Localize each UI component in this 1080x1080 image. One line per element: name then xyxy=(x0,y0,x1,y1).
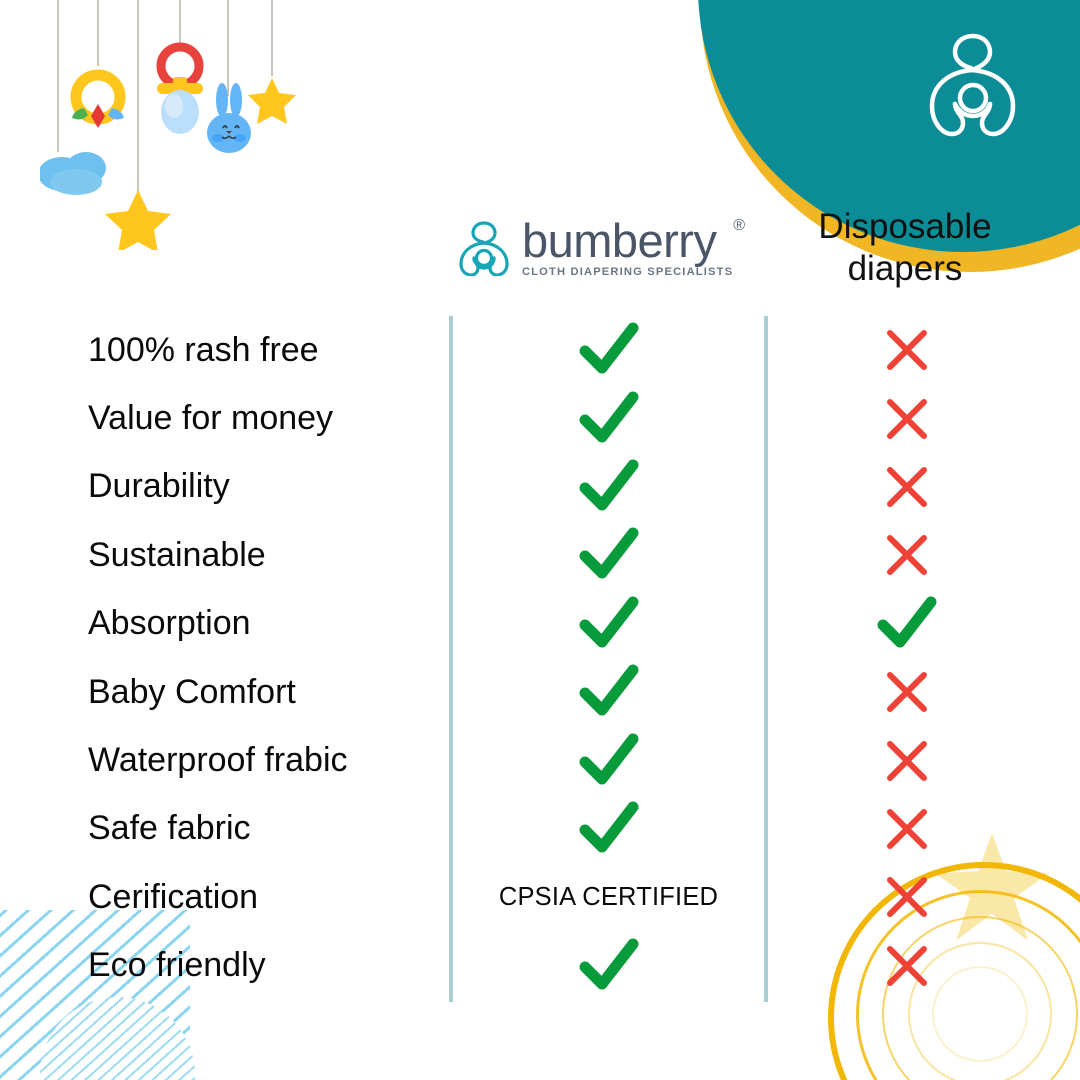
competitor-header-line-1: Disposable xyxy=(818,207,991,246)
brand-cell xyxy=(453,726,764,794)
star-icon xyxy=(248,78,296,124)
brand-cell xyxy=(453,521,764,589)
feature-label: Absorption xyxy=(88,590,251,658)
check-icon xyxy=(876,596,938,652)
brand-cell xyxy=(453,590,764,658)
check-icon xyxy=(578,459,640,515)
table-row: Value for money xyxy=(0,384,1080,452)
feature-label: Eco friendly xyxy=(88,932,266,1000)
table-row: Sustainable xyxy=(0,521,1080,589)
feature-label: Sustainable xyxy=(88,521,266,589)
feature-label: Waterproof frabic xyxy=(88,726,348,794)
competitor-cell xyxy=(768,453,1045,521)
competitor-cell xyxy=(768,590,1045,658)
cross-icon xyxy=(883,805,931,853)
check-icon xyxy=(578,527,640,583)
feature-label: Baby Comfort xyxy=(88,658,296,726)
competitor-cell xyxy=(768,521,1045,589)
competitor-cell xyxy=(768,795,1045,863)
competitor-column-header: Disposable diapers xyxy=(765,196,1045,300)
table-row: CerificationCPSIA CERTIFIED xyxy=(0,863,1080,931)
check-icon xyxy=(578,801,640,857)
comparison-infographic: bumberry CLOTH DIAPERING SPECIALISTS ® D… xyxy=(0,0,1080,1080)
cross-icon xyxy=(883,668,931,716)
table-row: 100% rash free xyxy=(0,316,1080,384)
brand-tagline: CLOTH DIAPERING SPECIALISTS xyxy=(522,266,733,278)
table-row: Waterproof frabic xyxy=(0,726,1080,794)
feature-label: Safe fabric xyxy=(88,795,251,863)
feature-label: Value for money xyxy=(88,384,333,452)
competitor-header-line-2: diapers xyxy=(848,249,963,288)
table-row: Safe fabric xyxy=(0,795,1080,863)
column-headers: bumberry CLOTH DIAPERING SPECIALISTS ® D… xyxy=(0,196,1080,300)
brand-cell xyxy=(453,932,764,1000)
pacifier-icon xyxy=(157,47,203,134)
brand-column-header: bumberry CLOTH DIAPERING SPECIALISTS ® xyxy=(450,196,765,300)
feature-label: Cerification xyxy=(88,863,258,931)
cross-icon xyxy=(883,463,931,511)
check-icon xyxy=(578,733,640,789)
certification-label: CPSIA CERTIFIED xyxy=(499,883,718,912)
competitor-cell xyxy=(768,726,1045,794)
brand-mother-and-child-icon xyxy=(458,220,510,276)
competitor-cell xyxy=(768,384,1045,452)
feature-label: 100% rash free xyxy=(88,316,319,384)
competitor-cell xyxy=(768,658,1045,726)
table-row: Baby Comfort xyxy=(0,658,1080,726)
brand-cell xyxy=(453,316,764,384)
badge-mother-and-child-icon xyxy=(918,30,1028,150)
table-row: Absorption xyxy=(0,590,1080,658)
cross-icon xyxy=(883,326,931,374)
cross-icon xyxy=(883,737,931,785)
table-row: Durability xyxy=(0,453,1080,521)
cross-icon xyxy=(883,873,931,921)
competitor-cell xyxy=(768,316,1045,384)
cross-icon xyxy=(883,531,931,579)
check-icon xyxy=(578,664,640,720)
check-icon xyxy=(578,938,640,994)
brand-cell xyxy=(453,384,764,452)
cross-icon xyxy=(883,395,931,443)
cloud-icon xyxy=(40,152,106,195)
brand-name: bumberry xyxy=(522,218,717,263)
table-row: Eco friendly xyxy=(0,932,1080,1000)
brand-cell: CPSIA CERTIFIED xyxy=(453,863,764,931)
comparison-table: 100% rash freeValue for moneyDurabilityS… xyxy=(0,316,1080,1000)
brand-cell xyxy=(453,658,764,726)
check-icon xyxy=(578,596,640,652)
check-icon xyxy=(578,322,640,378)
brand-cell xyxy=(453,795,764,863)
cross-icon xyxy=(883,942,931,990)
brand-cell xyxy=(453,453,764,521)
feature-label: Durability xyxy=(88,453,230,521)
check-icon xyxy=(578,391,640,447)
teething-ring-icon xyxy=(72,75,124,128)
competitor-cell xyxy=(768,932,1045,1000)
competitor-cell xyxy=(768,863,1045,931)
registered-trademark-symbol: ® xyxy=(733,217,745,235)
